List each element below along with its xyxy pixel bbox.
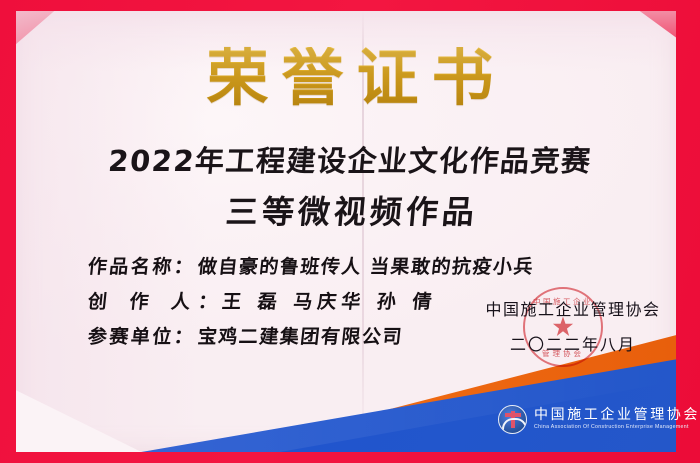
footer-logo-english: China Association Of Construction Enterp… bbox=[534, 425, 700, 430]
authors-colon: ： bbox=[197, 287, 224, 314]
issuer-organization: 中国施工企业管理协会 bbox=[478, 296, 668, 320]
work-title-value: 做自豪的鲁班传人 当果敢的抗疫小兵 bbox=[197, 252, 560, 279]
association-footer-logo: 中国施工企业管理协会 China Association Of Construc… bbox=[498, 405, 700, 434]
authors-label: 创 作 人 bbox=[87, 287, 200, 314]
work-title-colon: ： bbox=[173, 252, 200, 279]
association-emblem-icon bbox=[498, 405, 527, 434]
work-title-label: 作品名称 bbox=[87, 252, 176, 279]
emblem-arch-shape bbox=[502, 418, 527, 430]
footer-logo-text: 中国施工企业管理协会 China Association Of Construc… bbox=[534, 408, 700, 430]
field-row-work-title: 作品名称 ： 做自豪的鲁班传人 当果敢的抗疫小兵 bbox=[87, 252, 560, 279]
entrant-unit-label: 参赛单位 bbox=[87, 322, 176, 349]
certificate-title: 荣誉证书 bbox=[0, 47, 700, 109]
issue-date: 二〇二二年八月 bbox=[478, 331, 668, 355]
award-subtitle: 三等微视频作品 bbox=[0, 196, 700, 228]
certificate-image: 荣誉证书 2022年工程建设企业文化作品竞赛 三等微视频作品 作品名称 ： 做自… bbox=[0, 0, 700, 463]
competition-subtitle: 2022年工程建设企业文化作品竞赛 bbox=[0, 147, 700, 176]
footer-logo-chinese: 中国施工企业管理协会 bbox=[534, 408, 700, 423]
issuer-block: 中国施工企业管理协会 二〇二二年八月 bbox=[478, 296, 668, 355]
entrant-unit-colon: ： bbox=[173, 322, 200, 349]
